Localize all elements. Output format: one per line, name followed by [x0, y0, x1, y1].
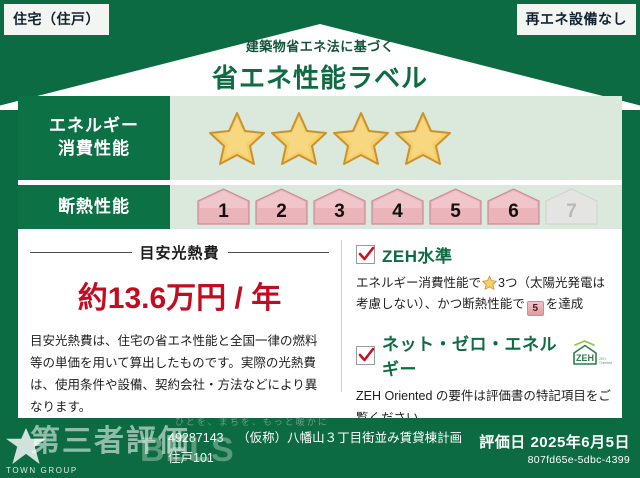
evaluation-info: 評価日 2025年6月5日 807fd65e-5dbc-4399: [479, 431, 630, 466]
utility-cost-column: 目安光熱費 約13.6万円 / 年 目安光熱費は、住宅の省エネ性能と全国一律の燃…: [18, 236, 341, 406]
property-unit: 住戸101: [168, 448, 462, 468]
insulation-performance-label: 断熱性能: [18, 185, 170, 229]
footer-bar: 49287143 （仮称）八幡山３丁目街並み賃貸棟計画 住戸101 評価日 20…: [0, 418, 640, 478]
insulation-scale: 1 2 3 4 5: [196, 188, 599, 226]
property-id: 49287143: [168, 431, 224, 445]
star-rating: [208, 110, 452, 166]
utility-cost-heading-text: 目安光熱費: [140, 242, 220, 263]
zeh-house-logo-icon: ZEH ZEH Oriented: [572, 340, 614, 370]
star-icon: [394, 110, 452, 166]
check-icon: [358, 246, 375, 263]
zeh-standard-title: ZEH水準: [382, 242, 453, 267]
insulation-level: 4: [370, 188, 425, 226]
property-line-1: 49287143 （仮称）八幡山３丁目街並み賃貸棟計画: [168, 428, 462, 448]
zeh-column: ZEH水準 エネルギー消費性能で3つ（太陽光発電は考慮しない）、かつ断熱性能で5…: [342, 236, 622, 406]
zeh-text-part-3: を達成: [546, 297, 584, 311]
zeh-logo: ZEH ZEH Oriented: [572, 340, 614, 370]
title-block: 建築物省エネ法に基づく 省エネ性能ラベル: [0, 36, 640, 95]
energy-performance-value: [170, 96, 622, 180]
energy-performance-row: エネルギー消費性能: [18, 96, 622, 180]
insulation-level-value: 1: [218, 201, 229, 226]
heading-rule-right: [228, 252, 330, 253]
utility-cost-note: 目安光熱費は、住宅の省エネ性能と全国一律の燃料等の単価を用いて算出したものです。…: [30, 331, 329, 419]
insulation-level: 3: [312, 188, 367, 226]
badge-renewable-energy: 再エネ設備なし: [517, 4, 637, 35]
insulation-performance-value: 1 2 3 4 5: [170, 185, 622, 229]
property-name: （仮称）八幡山３丁目街並み賃貸棟計画: [237, 431, 462, 445]
insulation-level-value: 6: [508, 201, 519, 226]
evaluation-date-label: 評価日: [479, 434, 526, 451]
evaluation-date-value: 2025年6月5日: [530, 434, 630, 451]
net-zero-energy-header: ネット・ゼロ・エネルギー ZEH ZEH Oriented: [356, 330, 614, 380]
insulation-performance-label-text: 断熱性能: [58, 196, 130, 219]
zeh-text-part-1: エネルギー消費性能で: [356, 276, 481, 290]
insulation-level-value: 2: [276, 201, 287, 226]
net-zero-energy-block: ネット・ゼロ・エネルギー ZEH ZEH Oriented ZEH Orient…: [356, 330, 614, 429]
zeh-standard-block: ZEH水準 エネルギー消費性能で3つ（太陽光発電は考慮しない）、かつ断熱性能で5…: [356, 242, 614, 316]
utility-cost-value: 約13.6万円 / 年: [30, 273, 329, 317]
page-title: 省エネ性能ラベル: [0, 58, 640, 95]
details-section: 目安光熱費 約13.6万円 / 年 目安光熱費は、住宅の省エネ性能と全国一律の燃…: [18, 236, 622, 406]
utility-cost-heading: 目安光熱費: [30, 242, 329, 263]
svg-text:Oriented: Oriented: [599, 361, 612, 365]
zeh-standard-text: エネルギー消費性能で3つ（太陽光発電は考慮しない）、かつ断熱性能で5を達成: [356, 273, 614, 316]
page-subtitle: 建築物省エネ法に基づく: [0, 36, 640, 55]
svg-text:ZEH: ZEH: [576, 353, 594, 363]
insulation-level: 6: [486, 188, 541, 226]
footer-content: 49287143 （仮称）八幡山３丁目街並み賃貸棟計画 住戸101 評価日 20…: [0, 418, 640, 478]
insulation-level-value: 3: [334, 201, 345, 226]
star-icon: [332, 110, 390, 166]
insulation-level: 5: [428, 188, 483, 226]
insulation-badge: 5: [527, 301, 544, 316]
insulation-level-value: 7: [566, 201, 577, 226]
evaluation-hash: 807fd65e-5dbc-4399: [479, 454, 630, 466]
energy-performance-label: エネルギー消費性能: [18, 96, 170, 180]
zeh-standard-header: ZEH水準: [356, 242, 614, 267]
badge-building-type: 住宅（住戸）: [4, 4, 109, 35]
zeh-standard-checkbox[interactable]: [356, 245, 375, 264]
insulation-level-value: 5: [450, 201, 461, 226]
insulation-level-inactive: 7: [544, 188, 599, 226]
net-zero-energy-checkbox[interactable]: [356, 346, 375, 365]
star-icon: [208, 110, 266, 166]
evaluation-date: 評価日 2025年6月5日: [479, 431, 630, 452]
star-icon: [482, 275, 497, 290]
label-card: エネルギー消費性能 断熱性能 1 2: [18, 96, 622, 418]
insulation-level: 1: [196, 188, 251, 226]
net-zero-energy-title: ネット・ゼロ・エネルギー: [382, 330, 561, 380]
insulation-level: 2: [254, 188, 309, 226]
insulation-level-value: 4: [392, 201, 403, 226]
star-icon: [270, 110, 328, 166]
heading-rule-left: [30, 252, 132, 253]
check-icon: [358, 347, 375, 364]
insulation-performance-row: 断熱性能 1 2 3 4: [18, 185, 622, 229]
energy-performance-label-text: エネルギー消費性能: [49, 115, 139, 161]
property-info: 49287143 （仮称）八幡山３丁目街並み賃貸棟計画 住戸101: [168, 428, 462, 468]
